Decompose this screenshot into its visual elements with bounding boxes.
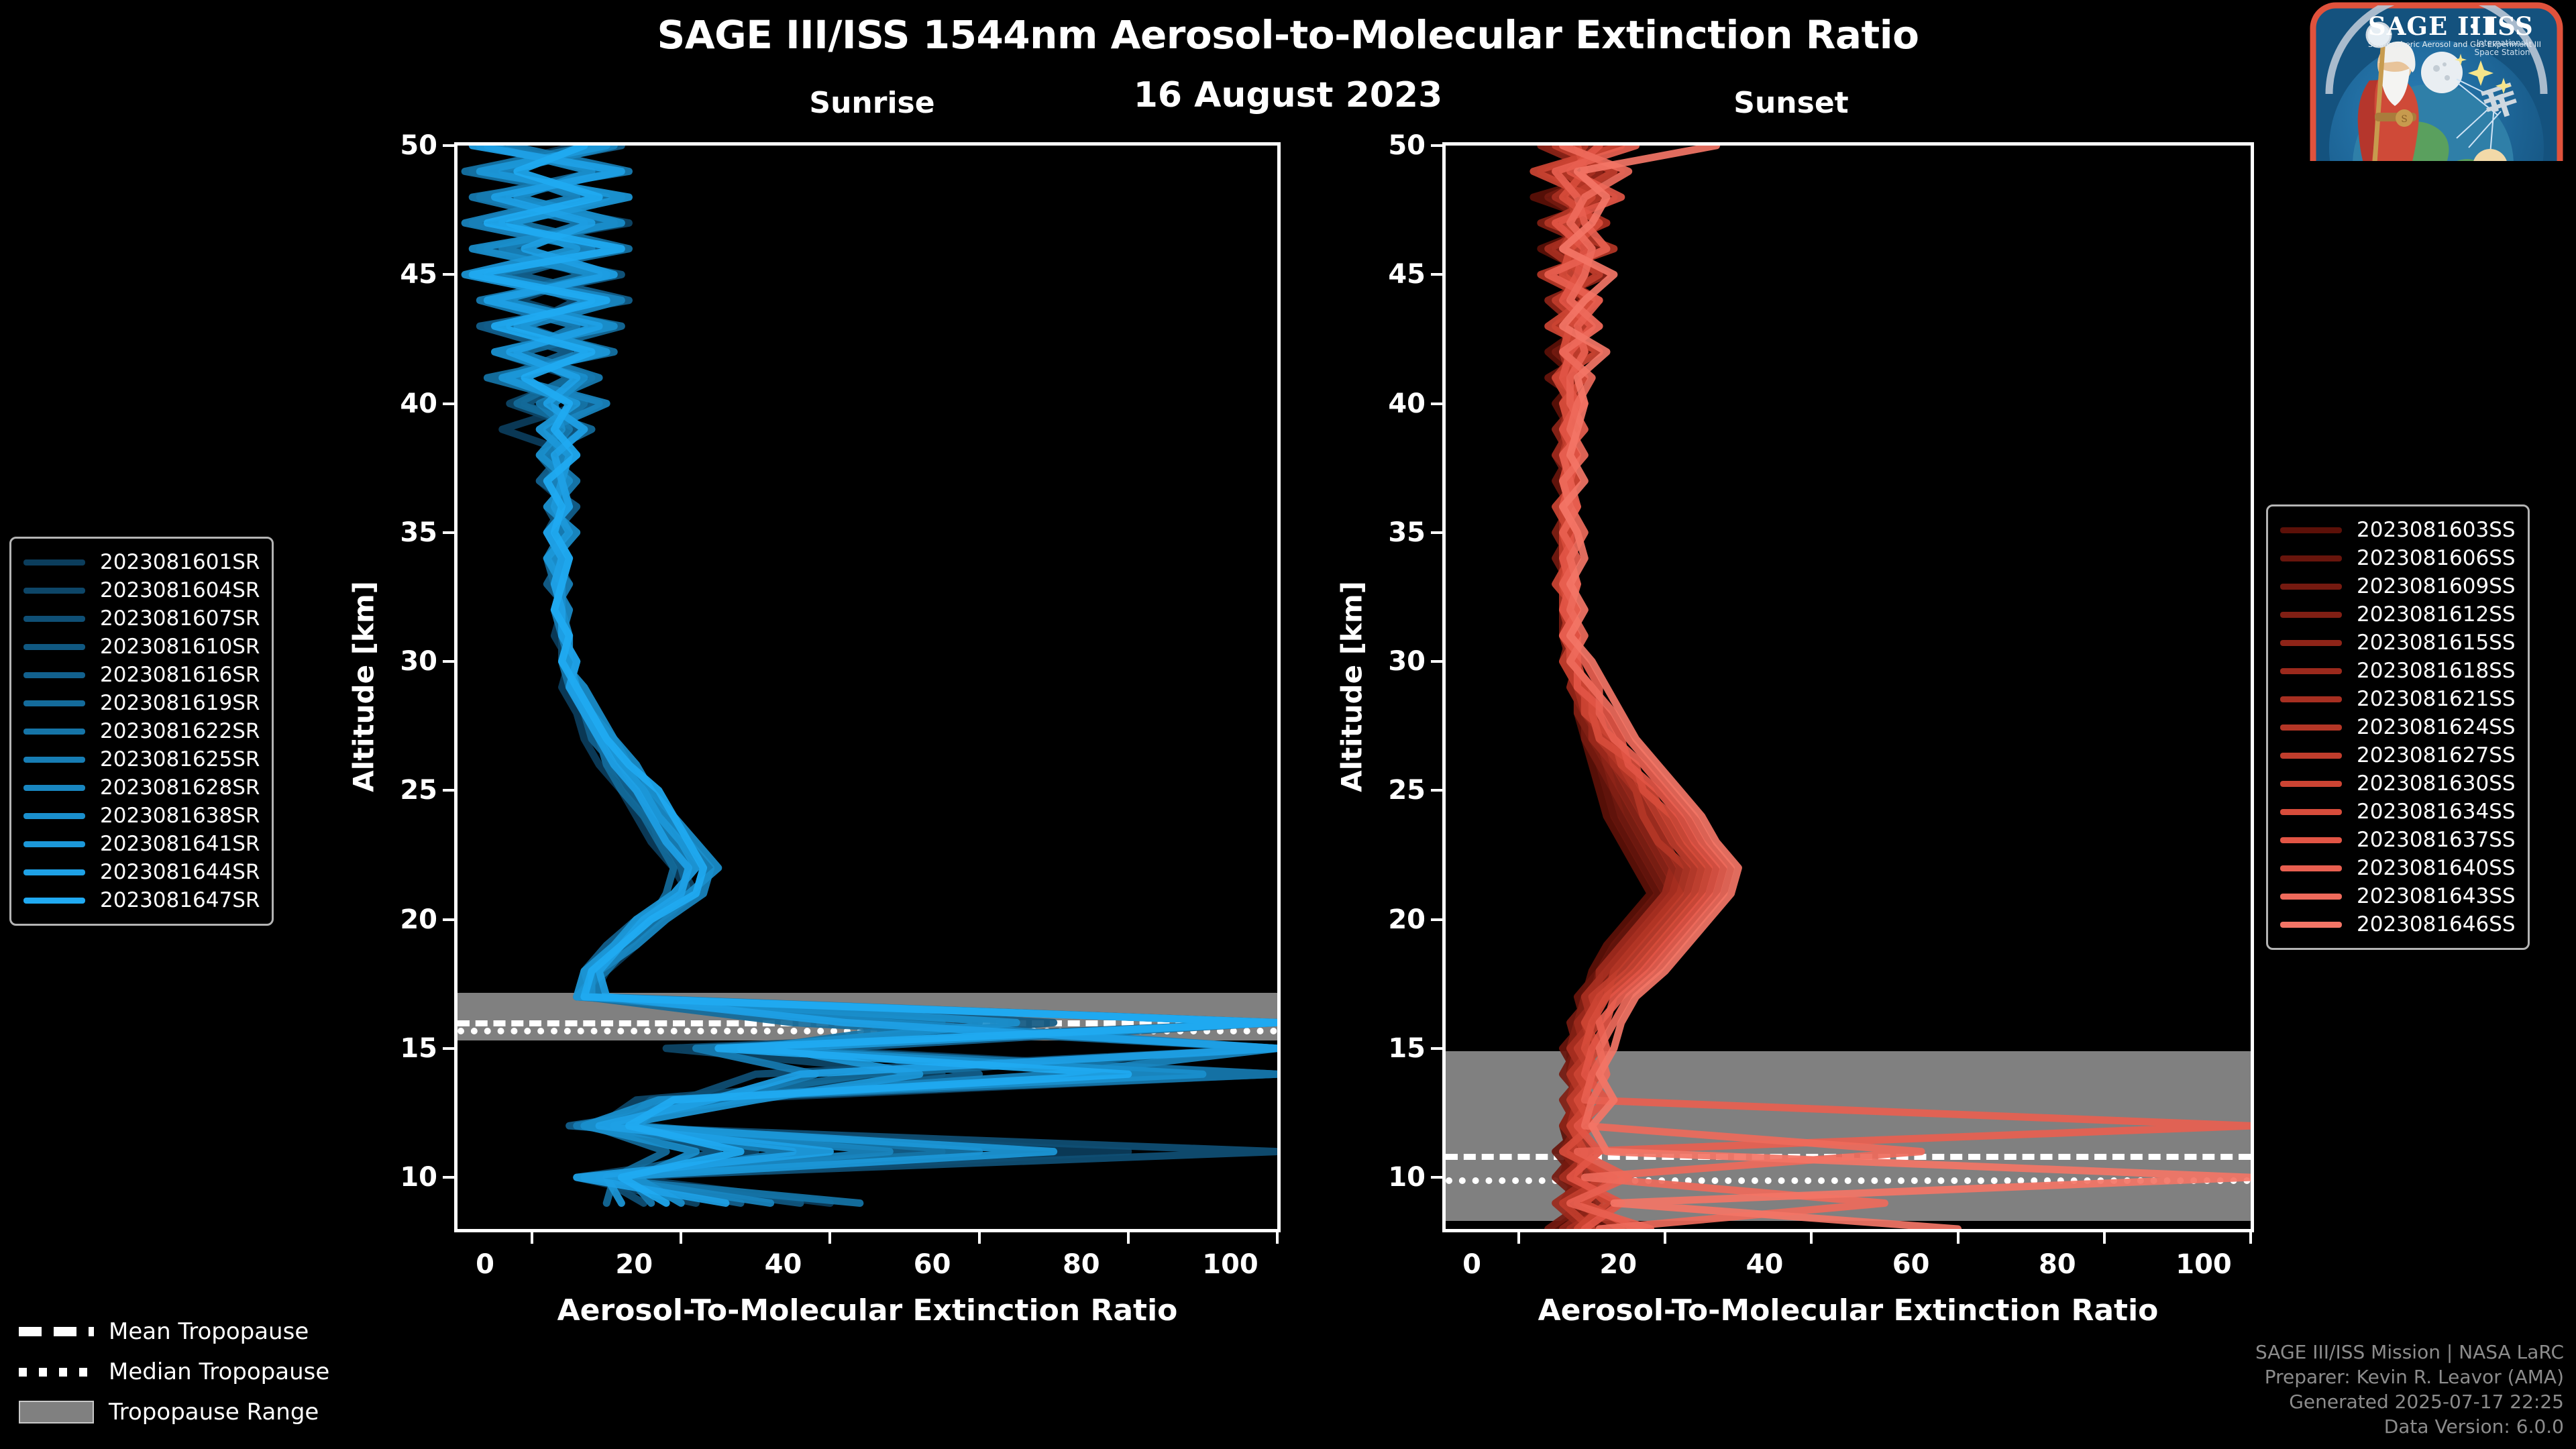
legend-item[interactable]: 2023081628SR (23, 773, 260, 802)
y-tick-label: 40 (357, 388, 437, 419)
y-tick-mark (1431, 144, 1444, 147)
legend-item[interactable]: 2023081619SR (23, 689, 260, 717)
legend-color-swatch (2280, 668, 2342, 674)
plot-sunrise (454, 142, 1281, 1232)
legend-item[interactable]: 2023081637SS (2280, 826, 2516, 854)
legend-item-label: 2023081603SS (2357, 518, 2516, 542)
svg-text:Space Station: Space Station (2474, 48, 2530, 57)
x-tick-label: 20 (587, 1249, 681, 1280)
panel-label-sunset: Sunset (1623, 86, 1959, 120)
legend-item[interactable]: 2023081640SS (2280, 854, 2516, 882)
legend-row-tropopause-range: Tropopause Range (19, 1392, 329, 1432)
y-tick-mark (1431, 660, 1444, 663)
legend-item-label: 2023081618SS (2357, 659, 2516, 683)
legend-item[interactable]: 2023081604SR (23, 576, 260, 604)
gray-band-icon (19, 1405, 94, 1419)
x-tick-label: 80 (1034, 1249, 1128, 1280)
y-tick-mark (443, 273, 456, 276)
series-lines-sunset (1446, 146, 2251, 1229)
x-tick-label: 40 (1717, 1249, 1811, 1280)
legend-color-swatch (2280, 865, 2342, 871)
legend-color-swatch (23, 869, 85, 875)
series-line (1563, 146, 2251, 1229)
credit-data-version: Data Version: 6.0.0 (2255, 1415, 2564, 1440)
x-tick-mark (1664, 1232, 1666, 1244)
legend-color-swatch (2280, 584, 2342, 590)
legend-color-swatch (23, 672, 85, 678)
legend-item-label: 2023081619SR (100, 691, 260, 715)
y-tick-mark (1431, 1176, 1444, 1179)
x-tick-label: 80 (2010, 1249, 2104, 1280)
legend-color-swatch (23, 898, 85, 904)
x-tick-label: 100 (2157, 1249, 2251, 1280)
y-tick-label: 35 (357, 517, 437, 548)
y-tick-label: 20 (1345, 904, 1426, 935)
legend-item-label: 2023081641SR (100, 832, 260, 856)
legend-item[interactable]: 2023081603SS (2280, 516, 2516, 544)
x-tick-label: 40 (736, 1249, 830, 1280)
legend-color-swatch (2280, 640, 2342, 646)
legend-item[interactable]: 2023081647SR (23, 886, 260, 914)
legend-item[interactable]: 2023081625SR (23, 745, 260, 773)
legend-item-label: 2023081640SS (2357, 856, 2516, 880)
x-tick-mark (531, 1232, 533, 1244)
legend-item-label: 2023081601SR (100, 550, 260, 574)
credit-preparer: Preparer: Kevin R. Leavor (AMA) (2255, 1365, 2564, 1390)
legend-item[interactable]: 2023081627SS (2280, 741, 2516, 769)
y-tick-mark (443, 918, 456, 921)
y-tick-mark (443, 402, 456, 405)
credits-block: SAGE III/ISS Mission | NASA LaRC Prepare… (2255, 1340, 2564, 1440)
legend-color-swatch (2280, 781, 2342, 787)
x-tick-mark (1127, 1232, 1130, 1244)
y-tick-label: 20 (357, 904, 437, 935)
legend-item[interactable]: 2023081609SS (2280, 572, 2516, 600)
legend-color-swatch (23, 841, 85, 847)
legend-color-swatch (2280, 724, 2342, 731)
legend-color-swatch (2280, 922, 2342, 928)
y-tick-label: 40 (1345, 388, 1426, 419)
legend-item[interactable]: 2023081624SS (2280, 713, 2516, 741)
y-tick-mark (1431, 531, 1444, 534)
legend-item-label: 2023081606SS (2357, 546, 2516, 570)
y-tick-label: 10 (357, 1162, 437, 1193)
legend-color-swatch (2280, 612, 2342, 618)
legend-item[interactable]: 2023081618SS (2280, 657, 2516, 685)
legend-item[interactable]: 2023081612SS (2280, 600, 2516, 629)
y-tick-mark (1431, 789, 1444, 792)
x-tick-mark (978, 1232, 981, 1244)
legend-item-label: 2023081644SR (100, 860, 260, 884)
legend-item-label: 2023081612SS (2357, 602, 2516, 627)
y-tick-mark (443, 144, 456, 147)
legend-item-label: 2023081604SR (100, 578, 260, 602)
legend-item-label: 2023081621SS (2357, 687, 2516, 711)
legend-color-swatch (2280, 809, 2342, 815)
x-tick-label: 0 (1425, 1249, 1519, 1280)
y-tick-label: 35 (1345, 517, 1426, 548)
x-axis-label: Aerosol-To-Molecular Extinction Ratio (458, 1293, 1277, 1328)
legend-color-swatch (2280, 527, 2342, 533)
page-subtitle: 16 August 2023 (0, 75, 2576, 115)
legend-color-swatch (23, 644, 85, 650)
legend-item[interactable]: 2023081646SS (2280, 910, 2516, 938)
legend-item-label: 2023081615SS (2357, 631, 2516, 655)
legend-color-swatch (23, 757, 85, 763)
legend-item[interactable]: 2023081601SR (23, 548, 260, 576)
legend-row-mean-tropopause: Mean Tropopause (19, 1311, 329, 1352)
legend-row-median-tropopause: Median Tropopause (19, 1352, 329, 1392)
legend-item-label: 2023081638SR (100, 804, 260, 828)
sage-iii-iss-mission-patch-logo: S SAGE III · ISS Stratospheric Aerosol a… (2289, 0, 2571, 161)
legend-item-label: 2023081624SS (2357, 715, 2516, 739)
x-tick-label: 100 (1183, 1249, 1277, 1280)
legend-color-swatch (23, 616, 85, 622)
y-tick-mark (443, 1176, 456, 1179)
legend-label-median-tropopause: Median Tropopause (109, 1358, 329, 1385)
legend-color-swatch (23, 588, 85, 594)
legend-item-label: 2023081634SS (2357, 800, 2516, 824)
legend-item[interactable]: 2023081634SS (2280, 798, 2516, 826)
legend-color-swatch (23, 813, 85, 819)
legend-item-label: 2023081625SR (100, 747, 260, 771)
y-tick-label: 45 (1345, 259, 1426, 290)
series-line (1548, 146, 2251, 1229)
legend-color-swatch (23, 785, 85, 791)
y-tick-mark (443, 1047, 456, 1050)
legend-label-mean-tropopause: Mean Tropopause (109, 1318, 309, 1345)
legend-item[interactable]: 2023081607SR (23, 604, 260, 633)
legend-item-label: 2023081610SR (100, 635, 260, 659)
legend-item[interactable]: 2023081638SR (23, 802, 260, 830)
x-tick-mark (2249, 1232, 2252, 1244)
legend-item[interactable]: 2023081615SS (2280, 629, 2516, 657)
y-axis-label: Altitude [km] (1336, 579, 1368, 794)
svg-text:International: International (2477, 38, 2528, 48)
dotted-line-icon (19, 1364, 94, 1379)
y-tick-label: 10 (1345, 1162, 1426, 1193)
figure-canvas: SAGE III/ISS 1544nm Aerosol-to-Molecular… (0, 0, 2576, 1449)
series-lines-sunrise (458, 146, 1277, 1229)
y-tick-mark (1431, 273, 1444, 276)
x-tick-mark (2103, 1232, 2106, 1244)
legend-color-swatch (23, 729, 85, 735)
y-tick-label: 50 (357, 130, 437, 161)
x-tick-mark (1957, 1232, 1960, 1244)
y-tick-mark (443, 531, 456, 534)
y-tick-label: 15 (357, 1033, 437, 1064)
legend-item-label: 2023081609SS (2357, 574, 2516, 598)
y-tick-label: 50 (1345, 130, 1426, 161)
legend-item[interactable]: 2023081621SS (2280, 685, 2516, 713)
legend-color-swatch (2280, 696, 2342, 702)
legend-color-swatch (2280, 894, 2342, 900)
legend-item-label: 2023081630SS (2357, 771, 2516, 796)
x-tick-label: 20 (1571, 1249, 1665, 1280)
legend-label-tropopause-range: Tropopause Range (109, 1399, 319, 1426)
svg-text:S: S (2401, 114, 2408, 125)
plot-sunset (1442, 142, 2254, 1232)
legend-item-label: 2023081647SR (100, 888, 260, 912)
series-line (1563, 146, 1922, 1229)
y-tick-mark (1431, 918, 1444, 921)
legend-item[interactable]: 2023081643SS (2280, 882, 2516, 910)
legend-item[interactable]: 2023081630SS (2280, 769, 2516, 798)
page-title: SAGE III/ISS 1544nm Aerosol-to-Molecular… (0, 12, 2576, 58)
legend-item[interactable]: 2023081610SR (23, 633, 260, 661)
legend-color-swatch (23, 559, 85, 566)
legend-item[interactable]: 2023081616SR (23, 661, 260, 689)
x-axis-label: Aerosol-To-Molecular Extinction Ratio (1446, 1293, 2251, 1328)
legend-item-label: 2023081627SS (2357, 743, 2516, 767)
x-tick-mark (1276, 1232, 1279, 1244)
legend-item-label: 2023081637SS (2357, 828, 2516, 852)
legend-item-label: 2023081643SS (2357, 884, 2516, 908)
x-tick-label: 0 (438, 1249, 532, 1280)
x-tick-mark (680, 1232, 682, 1244)
credit-mission: SAGE III/ISS Mission | NASA LaRC (2255, 1340, 2564, 1365)
legend-item-label: 2023081622SR (100, 719, 260, 743)
legend-item-label: 2023081616SR (100, 663, 260, 687)
credit-generated: Generated 2025-07-17 22:25 (2255, 1390, 2564, 1415)
x-tick-mark (828, 1232, 831, 1244)
y-axis-label: Altitude [km] (347, 579, 380, 794)
legend-color-swatch (2280, 555, 2342, 561)
x-tick-mark (1810, 1232, 1813, 1244)
legend-item-label: 2023081628SR (100, 775, 260, 800)
legend-item-label: 2023081607SR (100, 606, 260, 631)
svg-text:· ISS: · ISS (2469, 11, 2533, 41)
legend-sunset[interactable]: 2023081603SS2023081606SS2023081609SS2023… (2266, 504, 2530, 950)
legend-item[interactable]: 2023081606SS (2280, 544, 2516, 572)
legend-color-swatch (2280, 753, 2342, 759)
y-tick-mark (1431, 402, 1444, 405)
legend-item-label: 2023081646SS (2357, 912, 2516, 936)
legend-sunrise[interactable]: 2023081601SR2023081604SR2023081607SR2023… (9, 537, 274, 926)
y-tick-label: 15 (1345, 1033, 1426, 1064)
y-tick-mark (443, 789, 456, 792)
dashed-line-icon (19, 1324, 94, 1339)
legend-color-swatch (23, 700, 85, 706)
x-tick-label: 60 (1864, 1249, 1958, 1280)
legend-item[interactable]: 2023081641SR (23, 830, 260, 858)
legend-item[interactable]: 2023081644SR (23, 858, 260, 886)
legend-color-swatch (2280, 837, 2342, 843)
x-tick-label: 60 (885, 1249, 979, 1280)
legend-tropopause: Mean Tropopause Median Tropopause Tropop… (19, 1311, 329, 1432)
x-tick-mark (1517, 1232, 1520, 1244)
y-tick-mark (443, 660, 456, 663)
y-tick-mark (1431, 1047, 1444, 1050)
y-tick-label: 45 (357, 259, 437, 290)
panel-label-sunrise: Sunrise (704, 86, 1040, 120)
legend-item[interactable]: 2023081622SR (23, 717, 260, 745)
